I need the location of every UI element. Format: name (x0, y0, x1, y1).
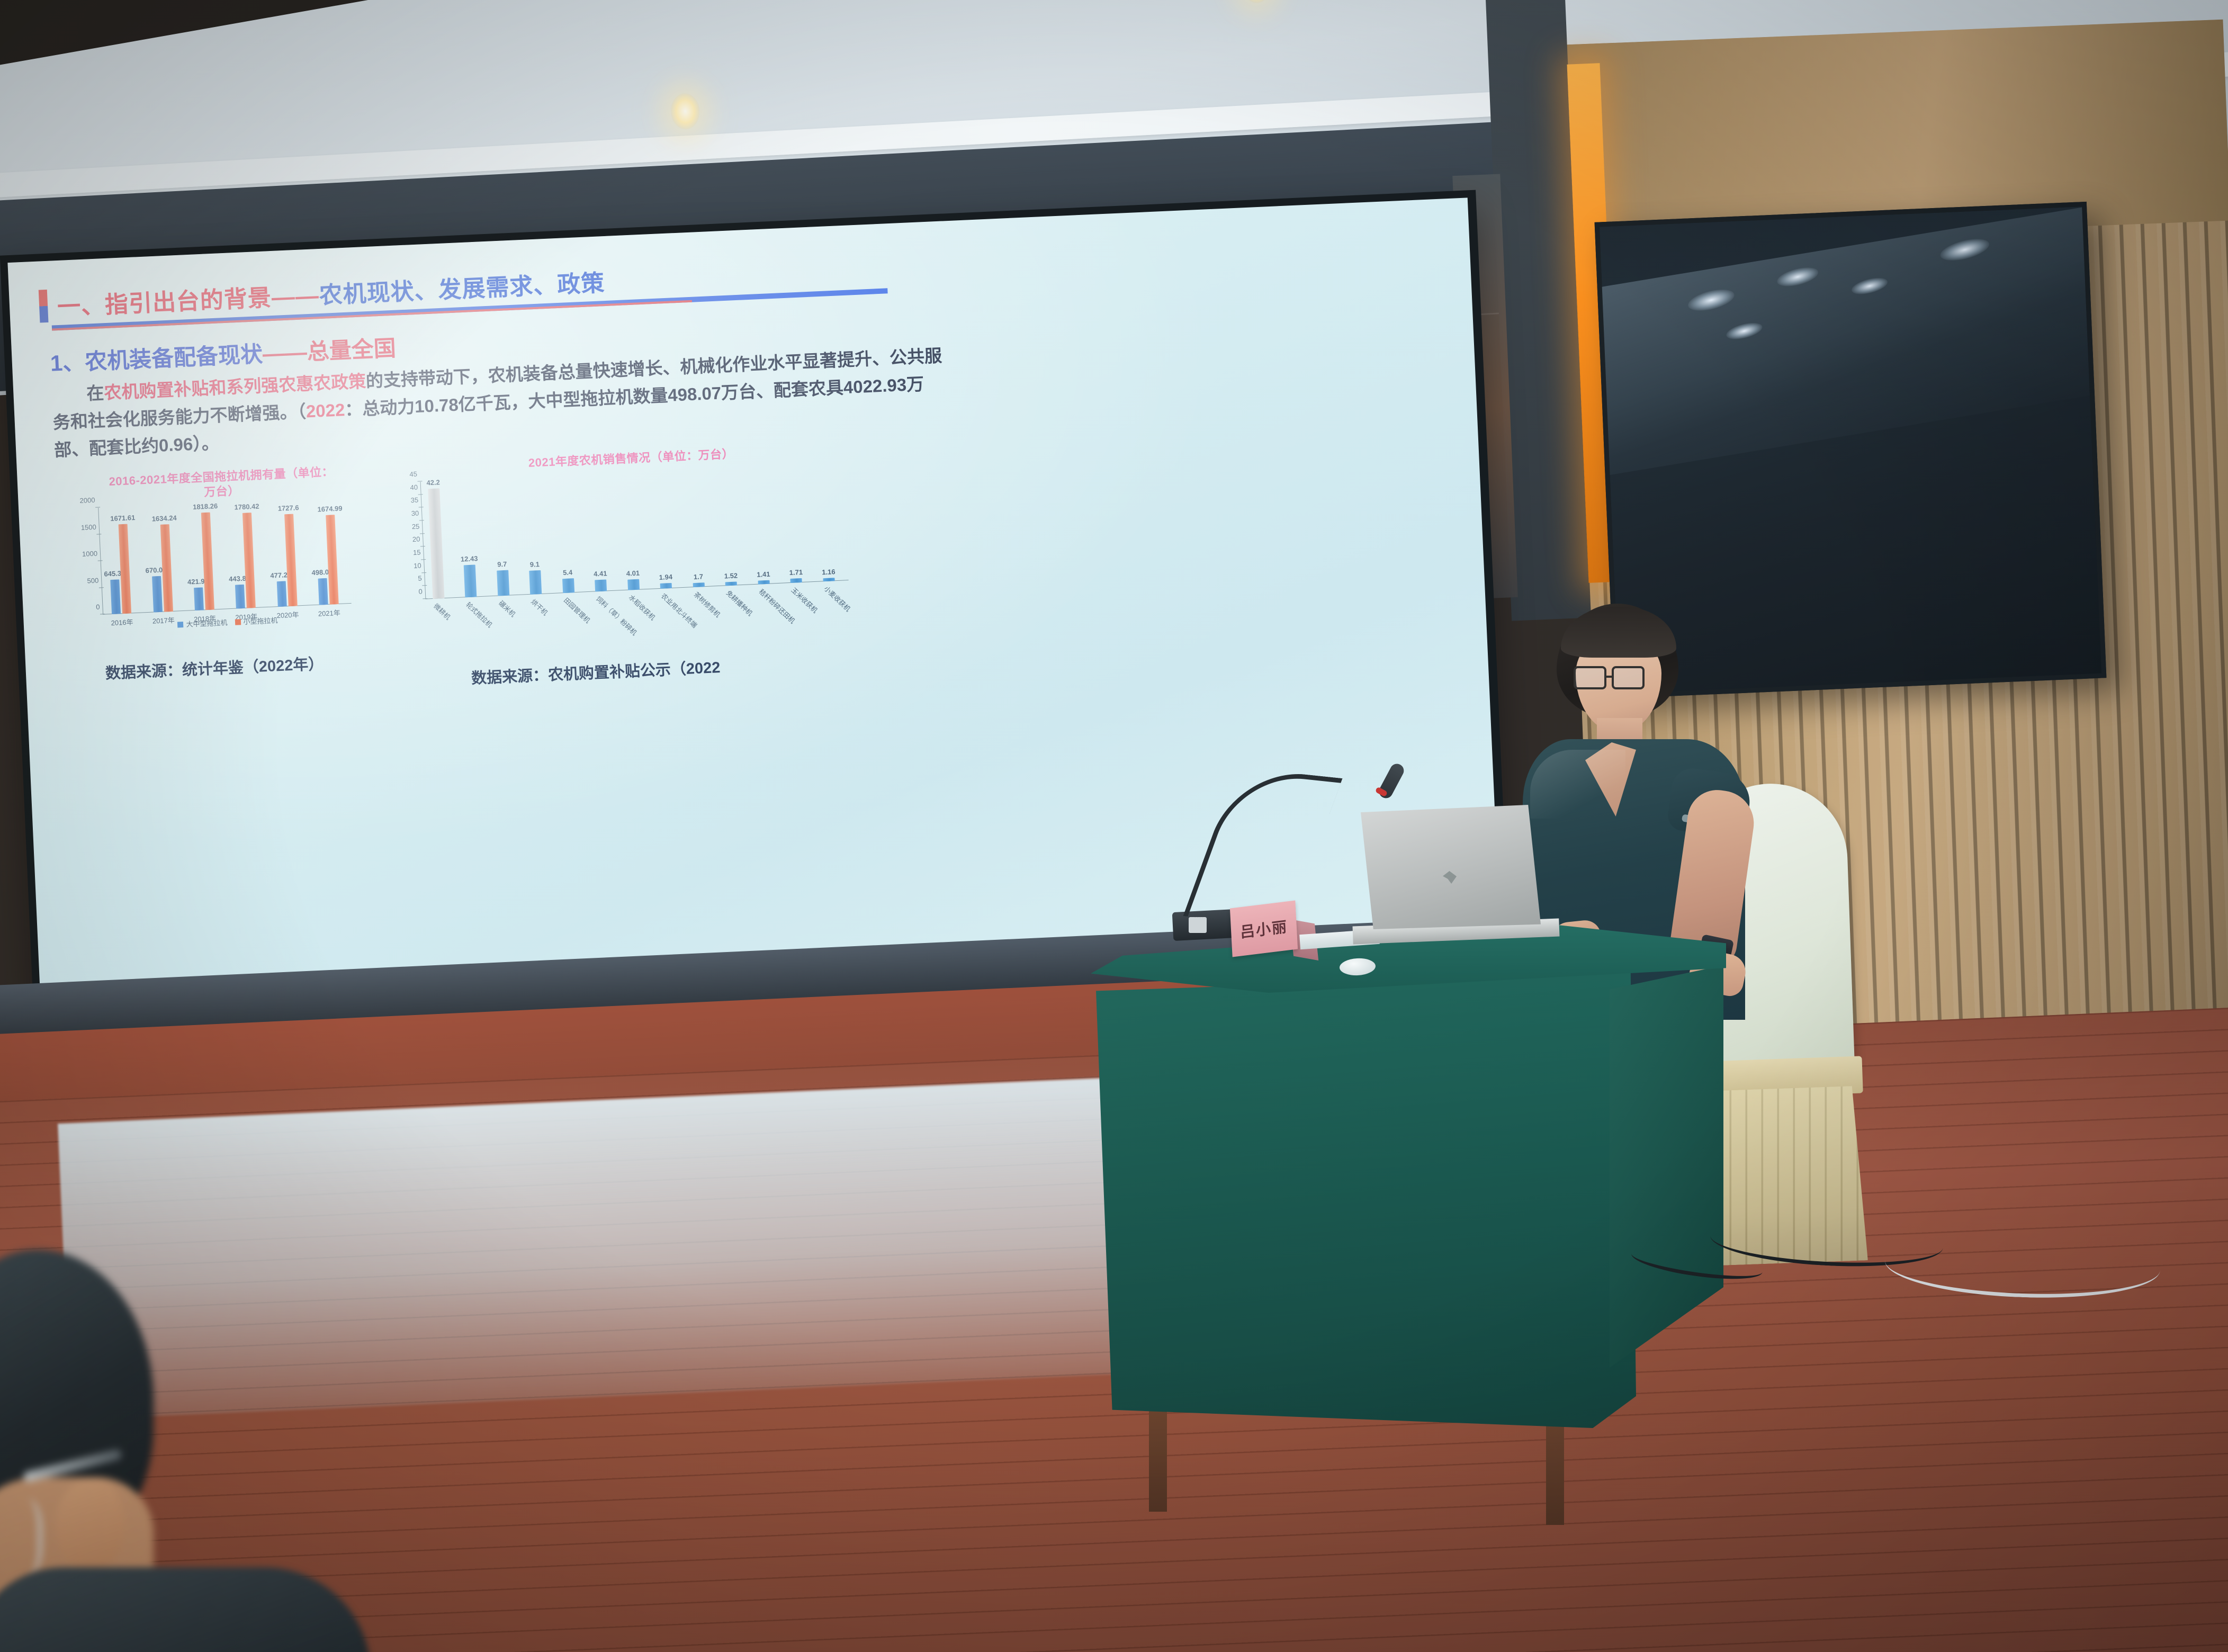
right-chart-x-tick-label: 免耕播种机 (724, 588, 755, 618)
right-chart-value-label: 42.2 (426, 478, 440, 487)
right-chart-x-tick-label: 田园管理机 (562, 595, 592, 625)
left-chart-bar: 645.39 (110, 579, 121, 614)
legend-color-swatch (235, 619, 240, 625)
left-chart-bar: 498.07 (318, 578, 328, 605)
right-chart-bar: 1.94 (660, 583, 672, 589)
presenter-nameplate: 吕小丽 (1230, 900, 1298, 957)
left-chart-y-tick-label: 500 (87, 576, 98, 585)
right-chart-bar-group: 12.43轮式拖拉机 (464, 564, 477, 597)
header-red-text: 一、指引出台的背景 (57, 285, 272, 320)
left-chart-plot-area: 645.391671.612016年670.081634.242017年421.… (98, 497, 352, 615)
right-chart-bar-group: 1.16小麦收获机 (823, 578, 834, 582)
right-chart-bar: 1.52 (725, 581, 737, 586)
left-chart-bar: 1671.61 (119, 524, 131, 614)
legend-label: 大中型拖拉机 (186, 618, 228, 628)
right-chart-y-tick-label: 10 (414, 561, 421, 570)
slide-header: 一、指引出台的背景——农机现状、发展需求、政策 (39, 247, 971, 324)
right-chart-y-tick-label: 45 (409, 470, 417, 479)
left-chart-y-tick-label: 0 (96, 603, 100, 611)
right-chart-bar: 4.41 (595, 580, 607, 592)
right-chart-bar: 9.7 (497, 570, 509, 596)
right-chart-value-label: 1.41 (757, 570, 770, 579)
right-chart-y-tick-label: 5 (418, 574, 422, 582)
right-chart-bar: 12.43 (464, 564, 477, 597)
legend-color-swatch (177, 622, 183, 627)
right-chart-bar-group: 42.2微耕机 (428, 488, 444, 599)
left-chart: 645.391671.612016年670.081634.242017年421.… (98, 497, 352, 630)
right-chart-value-label: 12.43 (461, 554, 478, 563)
left-chart-y-tick-label: 2000 (79, 496, 95, 505)
right-chart-y-tick-label: 35 (410, 496, 418, 505)
left-chart-legend-item: 小型拖拉机 (235, 615, 278, 627)
podium-table (1091, 924, 1726, 1485)
right-chart-x-tick-label: 轮式拖拉机 (464, 599, 495, 630)
legend-label: 小型拖拉机 (243, 616, 278, 626)
right-chart-bar: 1.16 (823, 578, 834, 582)
right-chart-y-tick-label: 20 (412, 535, 420, 544)
presenter-glasses-bridge (1606, 676, 1614, 678)
right-chart-value-label: 4.41 (594, 570, 607, 578)
right-chart-value-label: 1.94 (659, 573, 672, 581)
right-chart-bar-group: 4.01水稻收获机 (627, 579, 640, 590)
podium-tablecloth-side (1610, 965, 1723, 1368)
paragraph-l2b: ：总动力10.78亿千瓦，大中型拖拉机数 (344, 387, 651, 420)
right-chart-bar: 4.01 (627, 579, 640, 590)
right-chart-bar-group: 5.4田园管理机 (562, 579, 574, 594)
downlight-icon (670, 93, 700, 130)
left-chart-bar: 1727.6 (284, 514, 298, 606)
presenter-glasses-right-lens (1612, 666, 1645, 689)
right-chart-x-tick-label: 烘干机 (529, 596, 551, 617)
left-chart-value-label: 1780.42 (234, 502, 259, 511)
right-chart-bar: 1.71 (790, 578, 802, 583)
audience-ear (56, 1477, 124, 1573)
right-chart-bar: 9.1 (529, 570, 542, 595)
left-chart-value-label: 1674.99 (317, 504, 343, 513)
section-heading-red: ——总量全国 (262, 336, 397, 366)
audience-shoulder (0, 1567, 371, 1652)
left-chart-value-label: 1818.26 (193, 502, 218, 511)
left-chart-bar-group: 645.391671.612016年 (108, 524, 131, 614)
right-chart-y-tick-label: 30 (411, 509, 419, 518)
left-chart-bar: 443.86 (235, 585, 245, 609)
right-chart-x-tick-label: 小麦收获机 (822, 583, 853, 614)
right-chart-bar: 5.4 (562, 579, 574, 594)
left-chart-source: 数据来源：统计年鉴（2022年） (105, 651, 324, 683)
left-chart-bar-group: 443.861780.422019年 (232, 513, 256, 608)
right-chart-bar: 1.7 (693, 582, 704, 587)
right-chart-source: 数据来源：农机购置补贴公示（2022 (471, 655, 721, 688)
right-chart-value-label: 1.16 (822, 568, 835, 576)
right-chart-value-label: 9.7 (497, 560, 507, 569)
right-chart-x-tick-label: 微耕机 (432, 601, 453, 622)
right-chart-y-tick-label: 0 (418, 587, 423, 595)
right-chart-x-tick-label: 水稻收获机 (627, 592, 658, 622)
right-chart-bar: 42.2 (428, 488, 444, 599)
right-chart-y-tick-label: 40 (410, 483, 418, 491)
right-chart-y-tick-label: 25 (412, 522, 420, 531)
left-chart-bar: 670.08 (152, 576, 163, 612)
right-chart-x-tick-label: 茶树修剪机 (692, 589, 723, 619)
left-chart-bar: 1780.42 (242, 513, 256, 608)
right-chart-x-tick-label: 碾米机 (497, 598, 518, 619)
audience-glasses-rim (5, 1498, 42, 1578)
paragraph-l2-highlight: 2022 (306, 400, 345, 421)
left-chart-legend-item: 大中型拖拉机 (177, 617, 228, 629)
right-chart-bar: 1.41 (758, 580, 769, 585)
presenter-hair-fringe (1561, 607, 1676, 658)
left-chart-value-label: 1671.61 (110, 514, 136, 523)
left-chart-bar-group: 477.271727.62020年 (274, 514, 298, 607)
right-chart-bar-group: 4.41饲料（草）粉碎机 (595, 580, 607, 592)
right-chart-bar-group: 1.41秸秆粉碎还田机 (758, 580, 769, 585)
right-chart-value-label: 4.01 (626, 569, 640, 578)
paragraph-l1-highlight: 农机购置补贴和系列强农惠农政策 (104, 371, 366, 402)
downlight-icon (1241, 0, 1272, 4)
right-chart-y-tick-label: 15 (413, 548, 421, 556)
paragraph-indent (52, 400, 87, 401)
right-chart-bar-group: 1.71玉米收获机 (790, 578, 802, 583)
right-chart-bar-group: 1.7茶树修剪机 (693, 582, 704, 587)
presenter-shoulder-highlight (1530, 750, 1625, 819)
right-chart-x-tick-label: 玉米收获机 (789, 585, 820, 615)
left-chart-bar: 477.27 (276, 581, 286, 607)
right-chart-bar-group: 9.1烘干机 (529, 570, 542, 595)
paragraph-l1a: 在 (86, 383, 105, 403)
podium-tablecloth-front (1096, 973, 1636, 1428)
left-chart-value-label: 1634.24 (151, 514, 177, 523)
left-chart-legend: 大中型拖拉机小型拖拉机 (103, 612, 352, 633)
presenter-glasses-left-lens (1574, 666, 1606, 689)
left-chart-y-tick-label: 1500 (81, 523, 97, 531)
header-accent-bar (39, 290, 49, 323)
left-chart-bar-group: 421.991818.262018年 (191, 513, 214, 610)
left-chart-y-tick-label: 1000 (82, 550, 98, 558)
left-chart-bar: 1634.24 (160, 524, 173, 612)
right-chart-value-label: 1.71 (789, 568, 803, 576)
left-chart-bar: 1674.99 (326, 515, 339, 605)
right-chart-bar-group: 1.94农业用北斗终端 (660, 583, 672, 589)
microphone-indicator (1189, 917, 1207, 933)
laptop-lid[interactable] (1361, 805, 1541, 929)
left-chart-bar-group: 670.081634.242017年 (149, 524, 173, 613)
left-chart-value-label: 1727.6 (277, 504, 299, 513)
right-chart: 42.2微耕机12.43轮式拖拉机9.7碾米机9.1烘干机5.4田园管理机4.4… (420, 463, 849, 614)
right-chart-value-label: 9.1 (530, 560, 540, 569)
conference-room-scene: 一、指引出台的背景——农机现状、发展需求、政策 1、农机装备配备现状——总量全国… (0, 0, 2228, 1652)
right-chart-bar-group: 1.52免耕播种机 (725, 581, 737, 586)
right-chart-plot-area: 42.2微耕机12.43轮式拖拉机9.7碾米机9.1烘干机5.4田园管理机4.4… (420, 463, 849, 599)
right-chart-value-label: 1.52 (724, 571, 738, 580)
right-chart-value-label: 1.7 (694, 572, 704, 581)
right-chart-bar-group: 9.7碾米机 (497, 570, 509, 596)
left-chart-title: 2016-2021年度全国拖拉机拥有量（单位：万台） (107, 464, 336, 504)
header-dash: —— (271, 283, 320, 311)
right-chart-value-label: 5.4 (563, 569, 573, 577)
left-chart-bar-group: 498.071674.992021年 (315, 515, 338, 605)
nameplate-text: 吕小丽 (1239, 915, 1288, 942)
section-heading-blue: 1、农机装备配备现状 (50, 342, 263, 376)
left-chart-bar: 421.99 (194, 588, 204, 610)
